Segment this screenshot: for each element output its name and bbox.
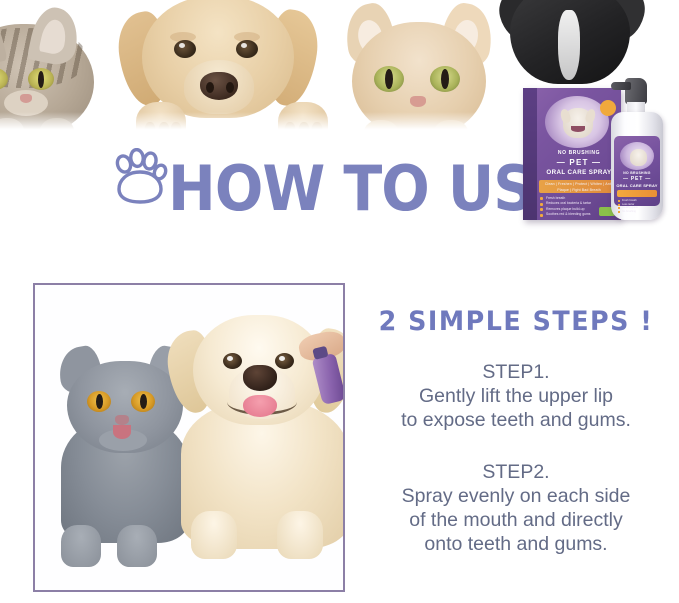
bottle-line-1: NO BRUSHING <box>614 171 660 175</box>
bottle-feature-band <box>617 190 657 197</box>
page-title: HOW TO USE <box>168 158 571 220</box>
bottle-line-2: — PET — <box>614 176 660 182</box>
product-shot: NO BRUSHING — PET — ORAL CARE SPRAY Clea… <box>515 70 679 230</box>
step-1-line-2: to expose teeth and gums. <box>368 408 664 432</box>
paw-print-icon <box>110 148 170 206</box>
box-side-panel <box>523 88 537 220</box>
bottle-bullet: No brushing <box>618 210 656 214</box>
bottle-dog-illustration <box>630 149 647 166</box>
step-1-line-1: Gently lift the upper lip <box>368 384 664 408</box>
steps-title: 2 SIMPLE STEPS ! <box>377 306 655 338</box>
step-2-line-1: Spray evenly on each side <box>368 484 664 508</box>
bottle-bullet-list: Fresh breath Less tartar Healthy gums No… <box>618 199 656 213</box>
instruction-photo <box>35 285 343 590</box>
photo-hand-with-spray-bottle <box>293 333 345 409</box>
box-dog-illustration <box>563 108 593 138</box>
bottle-nozzle <box>611 82 631 90</box>
step-1-block: STEP1. Gently lift the upper lip to expo… <box>368 360 664 432</box>
steps-section: 2 SIMPLE STEPS ! STEP1. Gently lift the … <box>368 306 664 556</box>
bottle-line-3: ORAL CARE SPRAY <box>614 183 660 188</box>
spray-bottle-icon <box>312 353 345 405</box>
step-2-block: STEP2. Spray evenly on each side of the … <box>368 460 664 556</box>
page-title-row: HOW TO USE <box>110 150 540 234</box>
step-2-line-3: onto teeth and gums. <box>368 532 664 556</box>
step-2-heading: STEP2. <box>368 460 664 484</box>
box-dog-mouth <box>571 126 585 132</box>
product-bottle: NO BRUSHING — PET — ORAL CARE SPRAY Fres… <box>607 78 667 224</box>
instruction-photo-frame <box>33 283 345 592</box>
step-2-line-2: of the mouth and directly <box>368 508 664 532</box>
step-1-heading: STEP1. <box>368 360 664 384</box>
